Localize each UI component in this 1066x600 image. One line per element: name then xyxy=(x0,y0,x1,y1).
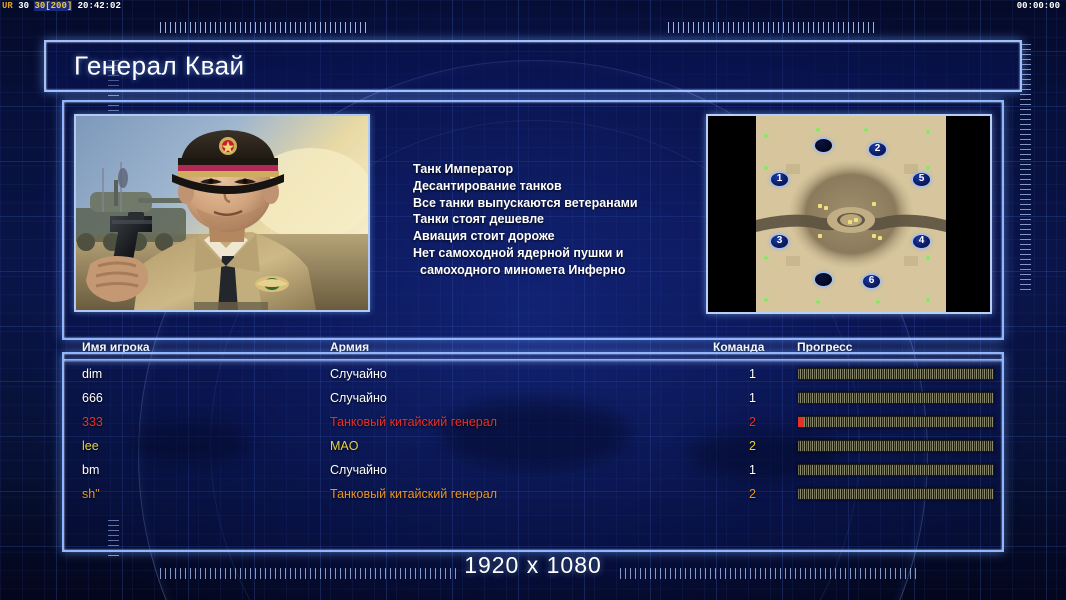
general-portrait-frame xyxy=(74,114,370,312)
spawn-point-unassigned[interactable] xyxy=(814,138,833,153)
resource-node xyxy=(926,130,930,134)
player-army: MAO xyxy=(330,439,358,453)
bonus-line: Авиация стоит дороже xyxy=(413,228,693,245)
player-name: dim xyxy=(82,367,102,381)
player-team: 1 xyxy=(742,463,756,477)
oil-derrick xyxy=(818,234,822,238)
oil-derrick xyxy=(872,234,876,238)
ruler-ticks-top xyxy=(668,22,878,33)
resource-node xyxy=(864,128,868,132)
status-token-clock: 20:42:02 xyxy=(78,1,121,11)
table-row[interactable]: sh"Танковый китайский генерал2 xyxy=(76,484,992,508)
oil-derrick xyxy=(824,206,828,210)
player-team: 1 xyxy=(742,391,756,405)
player-name: 333 xyxy=(82,415,103,429)
title-panel: Генерал Квай xyxy=(44,40,1022,92)
spawn-point-6[interactable]: 6 xyxy=(862,274,881,289)
table-row[interactable]: bmСлучайно1 xyxy=(76,460,992,484)
oil-derrick xyxy=(818,204,822,208)
map-terrain-art xyxy=(756,116,946,312)
bonus-line: Нет самоходной ядерной пушки и xyxy=(413,245,693,262)
table-row[interactable]: 666Случайно1 xyxy=(76,388,992,412)
table-row[interactable]: 333Танковый китайский генерал2 xyxy=(76,412,992,436)
spawn-point-3[interactable]: 3 xyxy=(770,234,789,249)
player-progress-bar xyxy=(798,440,994,452)
resource-node xyxy=(764,134,768,138)
resource-node xyxy=(926,166,930,170)
resource-node xyxy=(876,300,880,304)
general-portrait xyxy=(76,116,368,310)
status-bar-timer: 00:00:00 xyxy=(1017,0,1060,13)
resource-node xyxy=(764,166,768,170)
player-name: sh" xyxy=(82,487,100,501)
general-portrait-art xyxy=(76,116,368,310)
spawn-point-unassigned[interactable] xyxy=(814,272,833,287)
map-preview-image: 2 1 5 3 4 6 xyxy=(756,116,946,312)
status-bar: UR 30 30[200] 20:42:02 00:00:00 xyxy=(0,0,1066,13)
map-preview-frame[interactable]: 2 1 5 3 4 6 xyxy=(706,114,992,314)
bonus-line: Танк Император xyxy=(413,161,693,178)
status-bar-left: UR 30 30[200] 20:42:02 xyxy=(2,0,121,13)
table-row[interactable]: leeMAO2 xyxy=(76,436,992,460)
player-progress-bar xyxy=(798,488,994,500)
player-team: 2 xyxy=(742,439,756,453)
oil-derrick xyxy=(872,202,876,206)
player-team: 2 xyxy=(742,415,756,429)
player-name: 666 xyxy=(82,391,103,405)
oil-derrick xyxy=(878,236,882,240)
ruler-ticks-top xyxy=(160,22,370,33)
resolution-label: 1920 x 1080 xyxy=(0,552,1066,579)
spawn-point-4[interactable]: 4 xyxy=(912,234,931,249)
player-progress-bar xyxy=(798,416,994,428)
status-token-fps: 30 xyxy=(18,1,29,11)
resource-node xyxy=(764,298,768,302)
player-name: bm xyxy=(82,463,99,477)
resource-node xyxy=(764,256,768,260)
player-army: Случайно xyxy=(330,463,387,477)
player-progress-bar xyxy=(798,368,994,380)
status-token-limit: 30[200] xyxy=(34,1,72,11)
progress-fill xyxy=(798,417,804,427)
player-team: 1 xyxy=(742,367,756,381)
spawn-point-2[interactable]: 2 xyxy=(868,142,887,157)
page-title: Генерал Квай xyxy=(74,51,245,82)
resource-node xyxy=(926,256,930,260)
bonus-line: Все танки выпускаются ветеранами xyxy=(413,195,693,212)
oil-derrick xyxy=(854,218,858,222)
bonus-line: Танки стоят дешевле xyxy=(413,211,693,228)
resource-node xyxy=(816,128,820,132)
game-lobby-screen: UR 30 30[200] 20:42:02 00:00:00 Генерал … xyxy=(0,0,1066,600)
player-name: lee xyxy=(82,439,99,453)
bonus-line: Десантирование танков xyxy=(413,178,693,195)
player-army: Случайно xyxy=(330,367,387,381)
resource-node xyxy=(926,298,930,302)
resource-node xyxy=(816,300,820,304)
player-army: Танковый китайский генерал xyxy=(330,415,497,429)
player-progress-bar xyxy=(798,392,994,404)
general-bonus-list: Танк Император Десантирование танков Все… xyxy=(413,161,693,279)
bonus-line: самоходного миномета Инферно xyxy=(413,262,693,279)
spawn-point-5[interactable]: 5 xyxy=(912,172,931,187)
player-army: Танковый китайский генерал xyxy=(330,487,497,501)
player-progress-bar xyxy=(798,464,994,476)
status-token-ur: UR xyxy=(2,1,13,11)
player-team: 2 xyxy=(742,487,756,501)
table-row[interactable]: dimСлучайно1 xyxy=(76,364,992,388)
spawn-point-1[interactable]: 1 xyxy=(770,172,789,187)
oil-derrick xyxy=(848,220,852,224)
player-army: Случайно xyxy=(330,391,387,405)
